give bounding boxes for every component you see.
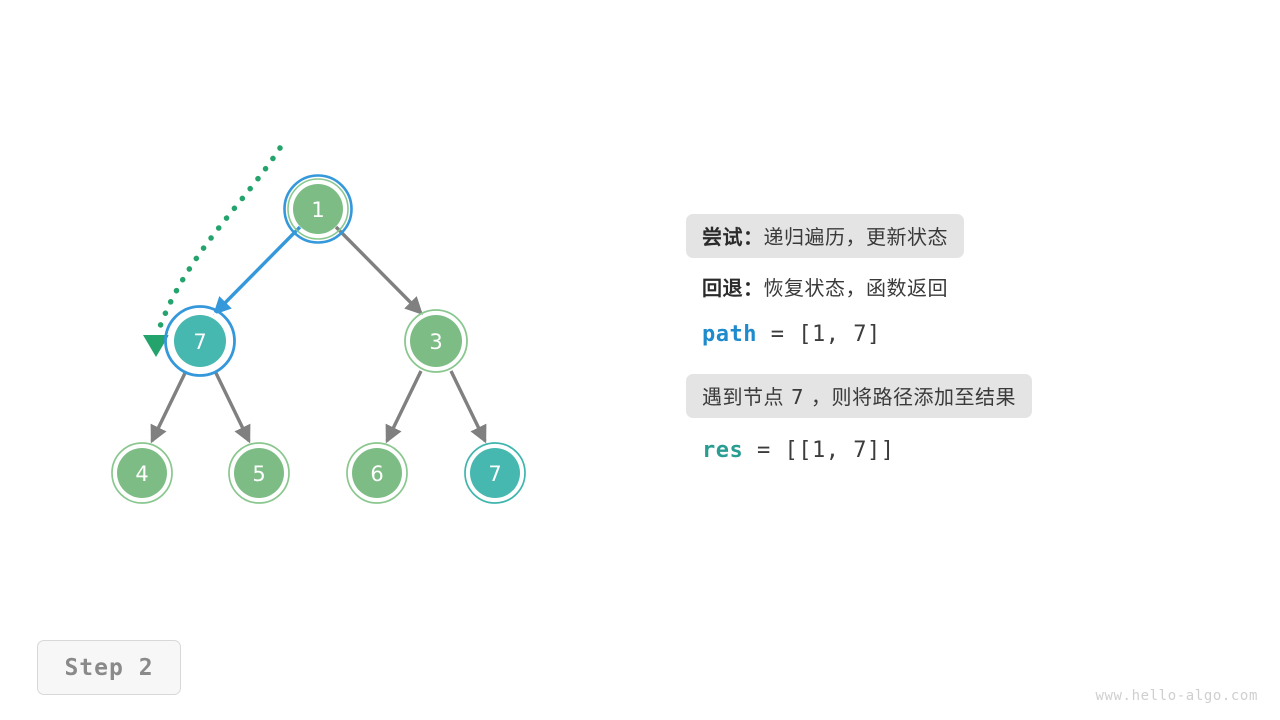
try-highlight-box: 尝试：递归遍历，更新状态 [686, 214, 964, 258]
backtrack-label: 回退： [702, 276, 764, 300]
node-value: 7 [193, 330, 206, 354]
hit-text: 遇到节点 7 ，则将路径添加至结果 [702, 385, 1016, 409]
tree-node-7-target[interactable]: 7 [465, 443, 525, 503]
edge-3-to-6 [387, 371, 421, 441]
edge-1-to-7 [215, 227, 300, 313]
try-text: 递归遍历，更新状态 [764, 225, 949, 249]
explanation-panel: 尝试：递归遍历，更新状态 回退：恢复状态，函数返回 path = [1, 7] … [686, 210, 1246, 474]
node-value: 6 [370, 462, 383, 486]
try-label: 尝试： [702, 225, 764, 249]
res-expression: = [[1, 7]] [743, 438, 894, 463]
tree-nodes: 1 7 3 4 [112, 176, 525, 504]
binary-tree-graphic: 1 7 3 4 [0, 0, 640, 720]
panel-line-hit: 遇到节点 7 ，则将路径添加至结果 [686, 370, 1246, 422]
tree-node-3[interactable]: 3 [405, 310, 467, 372]
node-value: 4 [135, 462, 148, 486]
edge-7-to-5 [215, 371, 249, 441]
node-value: 5 [252, 462, 265, 486]
tree-node-7-current[interactable]: 7 [166, 307, 235, 376]
edge-3-to-7 [451, 371, 485, 441]
hit-highlight-box: 遇到节点 7 ，则将路径添加至结果 [686, 374, 1032, 418]
tree-node-6[interactable]: 6 [347, 443, 407, 503]
res-variable: res [702, 438, 743, 463]
step-badge-label: Step 2 [64, 655, 153, 681]
diagram-canvas: 1 7 3 4 [0, 0, 1280, 720]
panel-line-try: 尝试：递归遍历，更新状态 [686, 210, 1246, 262]
edge-7-to-4 [152, 371, 186, 441]
path-variable: path [702, 322, 757, 347]
node-value: 3 [429, 330, 442, 354]
watermark: www.hello-algo.com [1095, 688, 1258, 704]
path-expression: = [1, 7] [757, 322, 881, 347]
tree-node-1[interactable]: 1 [285, 176, 352, 243]
panel-line-res: res = [[1, 7]] [686, 426, 1246, 474]
tree-node-4[interactable]: 4 [112, 443, 172, 503]
panel-line-path: path = [1, 7] [686, 310, 1246, 358]
tree-node-5[interactable]: 5 [229, 443, 289, 503]
step-badge: Step 2 [37, 640, 181, 695]
panel-line-backtrack: 回退：恢复状态，函数返回 [686, 262, 1246, 310]
node-value: 1 [311, 198, 324, 222]
edge-1-to-3 [336, 227, 421, 313]
traversal-dotted-curve [158, 148, 280, 332]
node-value: 7 [488, 462, 501, 486]
backtrack-text: 恢复状态，函数返回 [764, 276, 949, 300]
